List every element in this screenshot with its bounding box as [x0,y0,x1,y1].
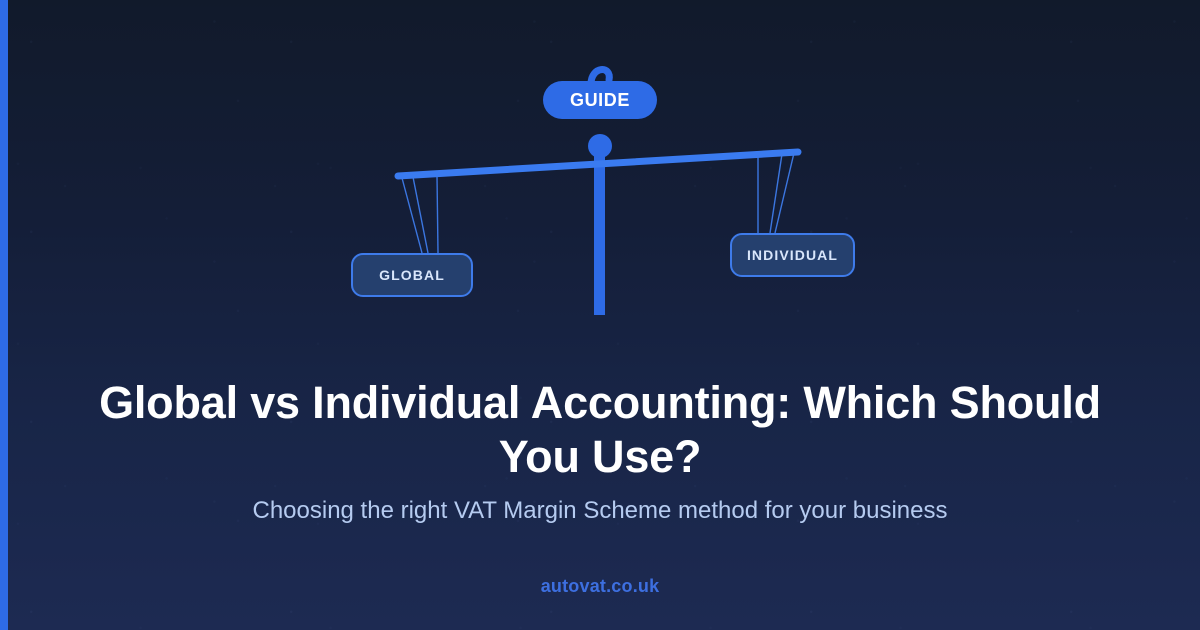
guide-badge-label: GUIDE [570,91,630,109]
pan-individual: INDIVIDUAL [730,233,855,277]
pivot-knob-icon [588,134,612,158]
guide-badge: GUIDE [543,81,657,119]
site-url: autovat.co.uk [0,576,1200,597]
pan-global: GLOBAL [351,253,473,297]
right-pan-strings [758,153,794,233]
pan-global-label: GLOBAL [379,268,445,282]
social-share-card: GUIDE GLOBAL INDIVIDUAL Global vs Indivi… [0,0,1200,630]
page-subtitle: Choosing the right VAT Margin Scheme met… [80,496,1120,526]
headline-block: Global vs Individual Accounting: Which S… [0,376,1200,526]
pan-individual-label: INDIVIDUAL [747,248,838,262]
page-title: Global vs Individual Accounting: Which S… [60,376,1140,484]
scale-post [594,146,605,315]
left-pan-strings [402,176,438,253]
balance-scale-illustration [0,0,1200,340]
